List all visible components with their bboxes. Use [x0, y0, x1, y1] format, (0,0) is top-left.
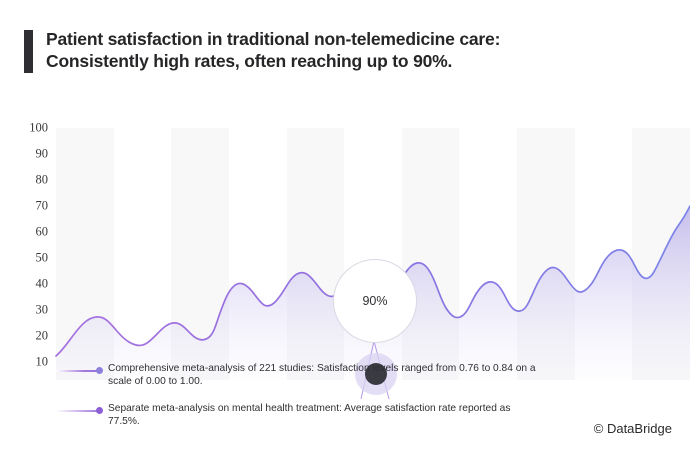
legend-marker-icon: [56, 404, 108, 418]
y-tick-70: 70: [2, 199, 48, 214]
y-tick-10: 10: [2, 355, 48, 370]
legend-label: Comprehensive meta-analysis of 221 studi…: [108, 362, 538, 388]
title-text-wrap: Patient satisfaction in traditional non-…: [46, 28, 500, 72]
legend-marker-icon: [56, 364, 108, 378]
chart-legend: Comprehensive meta-analysis of 221 studi…: [56, 362, 576, 442]
legend-item[interactable]: Separate meta-analysis on mental health …: [56, 402, 576, 428]
callout-bubble[interactable]: 90%: [333, 259, 417, 343]
legend-dot-icon: [96, 407, 103, 414]
y-tick-100: 100: [2, 121, 48, 136]
title-accent-bar: [24, 30, 33, 73]
title-line-2: Consistently high rates, often reaching …: [46, 50, 500, 72]
chart-area: 100 90 80 70 60 50 40 30 20 10: [0, 118, 690, 380]
legend-dot-icon: [96, 367, 103, 374]
y-tick-50: 50: [2, 251, 48, 266]
callout-value: 90%: [362, 294, 387, 308]
y-tick-60: 60: [2, 225, 48, 240]
watermark: © DataBridge: [594, 421, 672, 436]
legend-label: Separate meta-analysis on mental health …: [108, 402, 538, 428]
legend-item[interactable]: Comprehensive meta-analysis of 221 studi…: [56, 362, 576, 388]
y-tick-40: 40: [2, 277, 48, 292]
y-tick-80: 80: [2, 173, 48, 188]
title-line-1: Patient satisfaction in traditional non-…: [46, 28, 500, 50]
page-title: Patient satisfaction in traditional non-…: [24, 28, 664, 73]
y-tick-20: 20: [2, 329, 48, 344]
y-tick-30: 30: [2, 303, 48, 318]
y-axis: 100 90 80 70 60 50 40 30 20 10: [0, 118, 48, 364]
y-tick-90: 90: [2, 147, 48, 162]
